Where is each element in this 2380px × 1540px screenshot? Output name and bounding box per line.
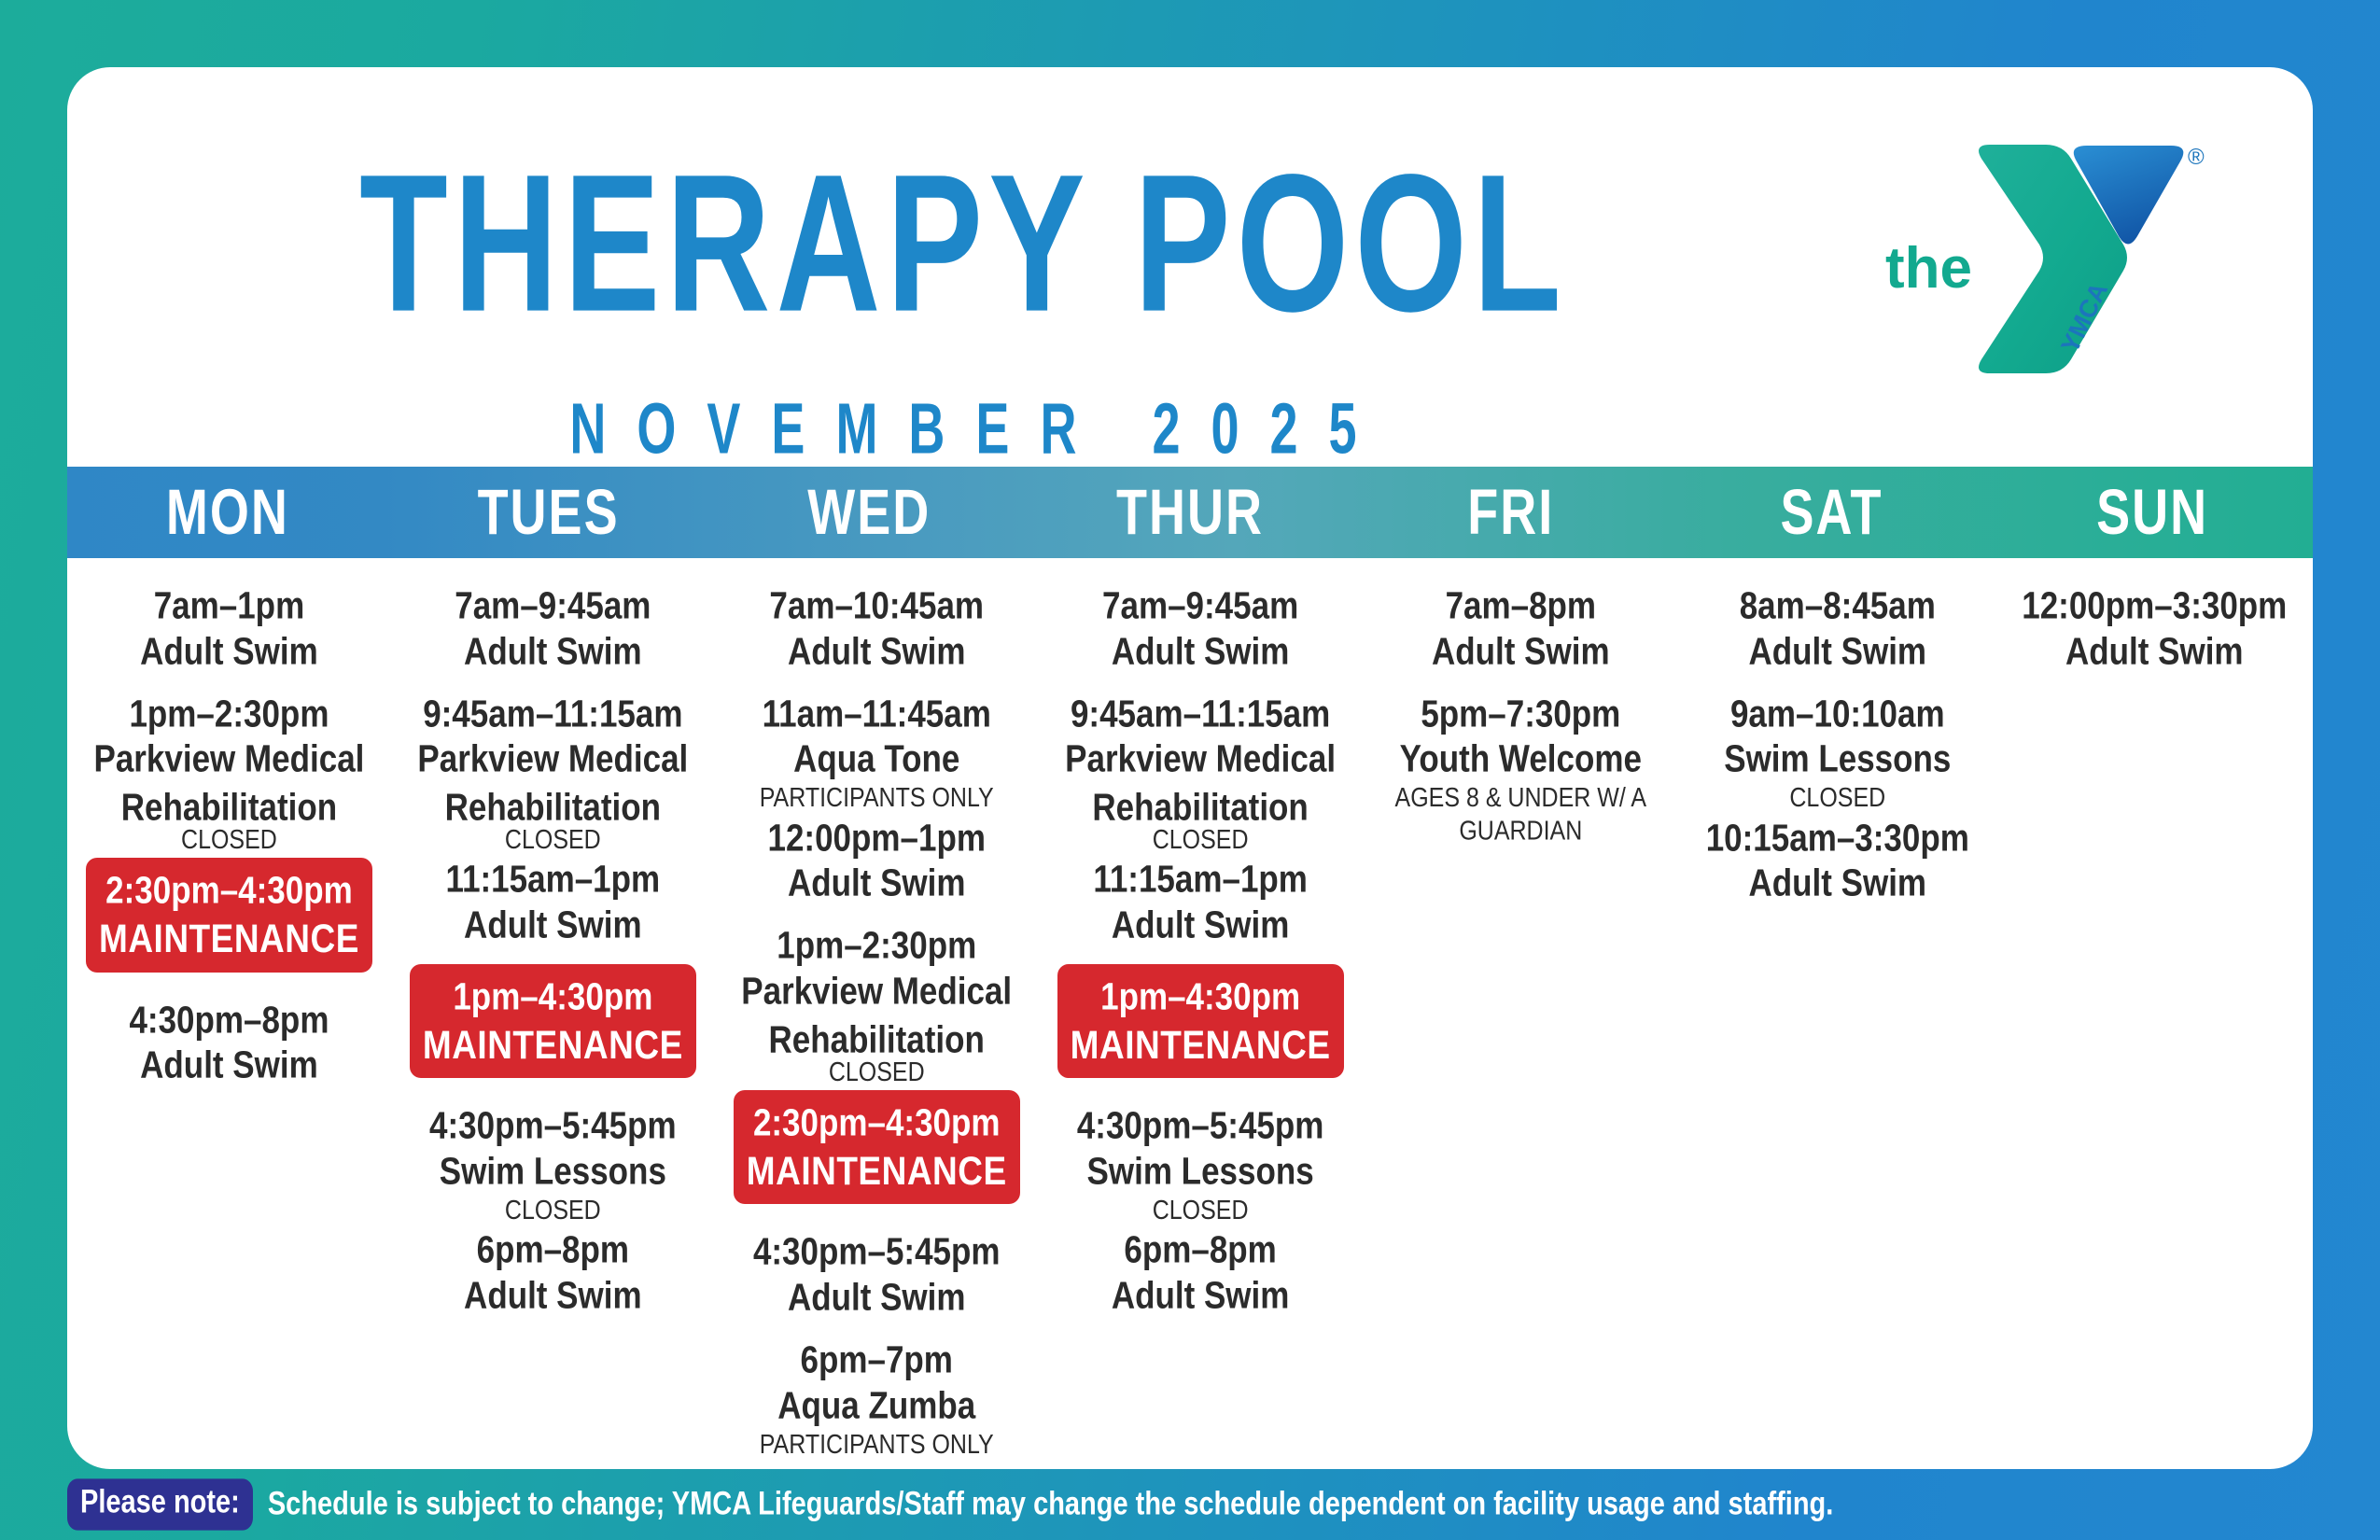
day-header-wed: WED [708,467,1029,558]
page-subtitle: NOVEMBER 2025 [67,388,1859,470]
schedule-block: 4:30pm–5:45pmSwim LessonsCLOSED [1052,1102,1350,1223]
block-time: 4:30pm–5:45pm [404,1102,702,1151]
schedule-block: 10:15am–3:30pmAdult Swim [1692,815,1982,903]
svg-text:®: ® [2188,145,2205,170]
block-activity: Adult Swim [1052,1272,1350,1321]
block-activity: Aqua Tone [728,735,1026,784]
title-block: THERAPY POOL NOVEMBER 2025 [67,146,1859,446]
block-note: CLOSED [80,824,378,857]
block-activity: Parkview Medical Rehabilitation [728,968,1026,1065]
block-time: 10:15am–3:30pm [1692,815,1982,863]
schedule-block: 12:00pm–3:30pmAdult Swim [2009,582,2300,670]
day-column-sat: 8am–8:45amAdult Swim9am–10:10amSwim Less… [1679,582,1995,1437]
day-label: WED [807,475,931,549]
block-time: 11:15am–1pm [1052,856,1350,904]
block-activity: Swim Lessons [404,1148,702,1197]
block-time: 8am–8:45am [1692,582,1982,631]
day-label: SUN [2096,475,2208,549]
footer-note-text: Schedule is subject to change; YMCA Life… [268,1486,1833,1523]
maintenance-block: 2:30pm–4:30pmMAINTENANCE [86,858,372,972]
block-activity: Adult Swim [1052,628,1350,677]
day-header-mon: MON [67,467,388,558]
block-time: 4:30pm–5:45pm [1052,1102,1350,1151]
block-activity: Adult Swim [728,1274,1026,1323]
block-time: 7am–8pm [1376,582,1666,631]
block-note: PARTICIPANTS ONLY [728,782,1026,815]
day-label: SAT [1780,475,1883,549]
block-time: 12:00pm–3:30pm [2009,582,2300,631]
svg-text:the: the [1885,236,1972,301]
block-activity: Youth Welcome [1376,735,1666,784]
page-title: THERAPY POOL [67,146,1877,342]
block-note: CLOSED [1052,1195,1350,1227]
schedule-block: 7:00pm–8pmAdult Swim [728,1461,1026,1469]
day-column-fri: 7am–8pmAdult Swim5pm–7:30pmYouth Welcome… [1363,582,1679,1437]
block-time: 9am–10:10am [1692,691,1982,739]
day-column-wed: 7am–10:45amAdult Swim11am–11:45amAqua To… [715,582,1039,1437]
block-activity: Aqua Zumba [728,1382,1026,1431]
day-label: FRI [1467,475,1554,549]
block-time: 4:30pm–8pm [80,997,378,1045]
schedule-block: 7am–8pmAdult Swim [1376,582,1666,670]
block-activity: MAINTENANCE [423,1019,683,1071]
day-column-mon: 7am–1pmAdult Swim1pm–2:30pmParkview Medi… [67,582,391,1437]
block-activity: MAINTENANCE [99,913,359,964]
schedule-block: 7am–1pmAdult Swim [80,582,378,670]
block-activity: MAINTENANCE [747,1145,1007,1197]
day-column-tues: 7am–9:45amAdult Swim9:45am–11:15amParkvi… [391,582,715,1437]
day-column-sun: 12:00pm–3:30pmAdult Swim [1996,582,2313,1437]
day-header-sat: SAT [1672,467,1993,558]
block-time: 7am–9:45am [404,582,702,631]
schedule-block: 7am–9:45amAdult Swim [1052,582,1350,670]
block-activity: Adult Swim [80,1042,378,1090]
block-activity: Parkview Medical Rehabilitation [404,735,702,833]
schedule-block: 11:15am–1pmAdult Swim [1052,856,1350,944]
day-header-thur: THUR [1029,467,1351,558]
block-time: 6pm–8pm [1052,1226,1350,1275]
block-activity: Adult Swim [1692,628,1982,677]
block-time: 6pm–8pm [404,1226,702,1275]
schedule-card: THERAPY POOL NOVEMBER 2025 [67,67,2313,1469]
maintenance-block: 2:30pm–4:30pmMAINTENANCE [734,1090,1020,1204]
day-label: MON [166,475,289,549]
block-time: 12:00pm–1pm [728,815,1026,863]
block-note: CLOSED [1692,782,1982,815]
block-activity: Adult Swim [1376,628,1666,677]
block-activity: Adult Swim [728,628,1026,677]
block-note: CLOSED [1052,824,1350,857]
day-header-sun: SUN [1992,467,2313,558]
block-activity: Adult Swim [404,1272,702,1321]
block-time: 7am–1pm [80,582,378,631]
block-note: CLOSED [404,1195,702,1227]
schedule-block: 4:30pm–5:45pmAdult Swim [728,1228,1026,1316]
block-time: 6pm–7pm [728,1337,1026,1385]
day-column-thur: 7am–9:45amAdult Swim9:45am–11:15amParkvi… [1039,582,1363,1437]
block-note: CLOSED [404,824,702,857]
ymca-logo: the YMCA ® [1878,121,2223,401]
schedule-block: 7am–10:45amAdult Swim [728,582,1026,670]
schedule-block: 5pm–7:30pmYouth WelcomeAGES 8 & UNDER W/… [1376,691,1666,840]
block-time: 11:15am–1pm [404,856,702,904]
schedule-block: 6pm–8pmAdult Swim [404,1226,702,1314]
schedule-grid: 7am–1pmAdult Swim1pm–2:30pmParkview Medi… [67,558,2313,1437]
block-time: 4:30pm–5:45pm [728,1228,1026,1277]
day-header-tues: TUES [388,467,709,558]
block-note: CLOSED [728,1057,1026,1089]
schedule-block: 1pm–2:30pmParkview Medical Rehabilitatio… [80,691,378,853]
block-activity: Adult Swim [404,902,702,950]
block-activity: Adult Swim [1692,860,1982,908]
schedule-block: 12:00pm–1pmAdult Swim [728,815,1026,903]
block-time: 1pm–2:30pm [80,691,378,739]
block-activity: Parkview Medical Rehabilitation [80,735,378,833]
block-activity: Parkview Medical Rehabilitation [1052,735,1350,833]
block-note: PARTICIPANTS ONLY [728,1429,1026,1462]
block-activity: Adult Swim [1052,902,1350,950]
block-time: 9:45am–11:15am [1052,691,1350,739]
block-time: 1pm–4:30pm [423,973,683,1022]
block-time: 7am–10:45am [728,582,1026,631]
schedule-block: 4:30pm–8pmAdult Swim [80,997,378,1085]
schedule-block: 9:45am–11:15amParkview Medical Rehabilit… [404,691,702,853]
block-activity: Swim Lessons [1052,1148,1350,1197]
schedule-block: 11:15am–1pmAdult Swim [404,856,702,944]
schedule-block: 6pm–7pmAqua ZumbaPARTICIPANTS ONLY [728,1337,1026,1457]
block-time: 1pm–4:30pm [1071,973,1331,1022]
footer-note: Please note: Schedule is subject to chan… [67,1484,1833,1525]
block-time: 7am–9:45am [1052,582,1350,631]
day-label: THUR [1116,475,1264,549]
block-time: 9:45am–11:15am [404,691,702,739]
block-activity: MAINTENANCE [1071,1019,1331,1071]
schedule-block: 8am–8:45amAdult Swim [1692,582,1982,670]
schedule-block: 11am–11:45amAqua TonePARTICIPANTS ONLY [728,691,1026,811]
block-time: 2:30pm–4:30pm [747,1099,1007,1148]
block-activity: Swim Lessons [1692,735,1982,784]
schedule-block: 9am–10:10amSwim LessonsCLOSED [1692,691,1982,811]
maintenance-block: 1pm–4:30pmMAINTENANCE [1057,964,1344,1078]
schedule-block: 4:30pm–5:45pmSwim LessonsCLOSED [404,1102,702,1223]
schedule-block: 7am–9:45amAdult Swim [404,582,702,670]
block-time: 7:00pm–8pm [728,1461,1026,1469]
block-time: 1pm–2:30pm [728,922,1026,971]
block-activity: Adult Swim [80,628,378,677]
schedule-block: 6pm–8pmAdult Swim [1052,1226,1350,1314]
day-label: TUES [478,475,620,549]
block-note: AGES 8 & UNDER W/ A GUARDIAN [1376,782,1666,847]
please-note-badge: Please note: [67,1478,253,1530]
block-time: 11am–11:45am [728,691,1026,739]
schedule-block: 1pm–2:30pmParkview Medical Rehabilitatio… [728,922,1026,1085]
maintenance-block: 1pm–4:30pmMAINTENANCE [410,964,696,1078]
day-header-row: MON TUES WED THUR FRI SAT SUN [67,467,2313,558]
block-time: 2:30pm–4:30pm [99,867,359,916]
day-header-fri: FRI [1351,467,1672,558]
schedule-block: 9:45am–11:15amParkview Medical Rehabilit… [1052,691,1350,853]
block-activity: Adult Swim [2009,628,2300,677]
block-activity: Adult Swim [728,860,1026,908]
block-activity: Adult Swim [404,628,702,677]
header: THERAPY POOL NOVEMBER 2025 [67,67,2313,467]
block-time: 5pm–7:30pm [1376,691,1666,739]
